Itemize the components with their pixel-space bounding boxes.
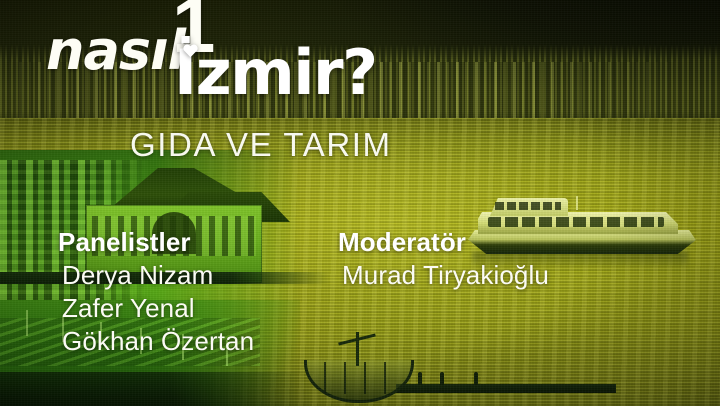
logo-word-izmir: İzmir? <box>174 42 377 104</box>
panelist-name: Zafer Yenal <box>58 292 254 325</box>
logo-word-nasil: nasıl <box>46 24 185 78</box>
panelist-name: Gökhan Özertan <box>58 325 254 358</box>
panelist-name: Derya Nizam <box>58 259 254 292</box>
subtitle-gida-ve-tarim: GIDA VE TARIM <box>130 126 392 164</box>
moderator-heading: Moderatör <box>338 228 549 257</box>
heart-icon <box>183 44 198 58</box>
moderator-name: Murad Tiryakioğlu <box>338 259 549 292</box>
moderator-column: Moderatör Murad Tiryakioğlu <box>338 228 549 292</box>
poster-canvas: nasıl 1 İzmir? GIDA VE TARIM Panelistler… <box>0 0 720 406</box>
panelists-heading: Panelistler <box>58 228 254 257</box>
panelists-column: Panelistler Derya Nizam Zafer Yenal Gökh… <box>58 228 254 358</box>
poster-content: nasıl 1 İzmir? GIDA VE TARIM Panelistler… <box>0 0 720 406</box>
nasil-izmir-logo: nasıl 1 İzmir? <box>44 2 464 120</box>
